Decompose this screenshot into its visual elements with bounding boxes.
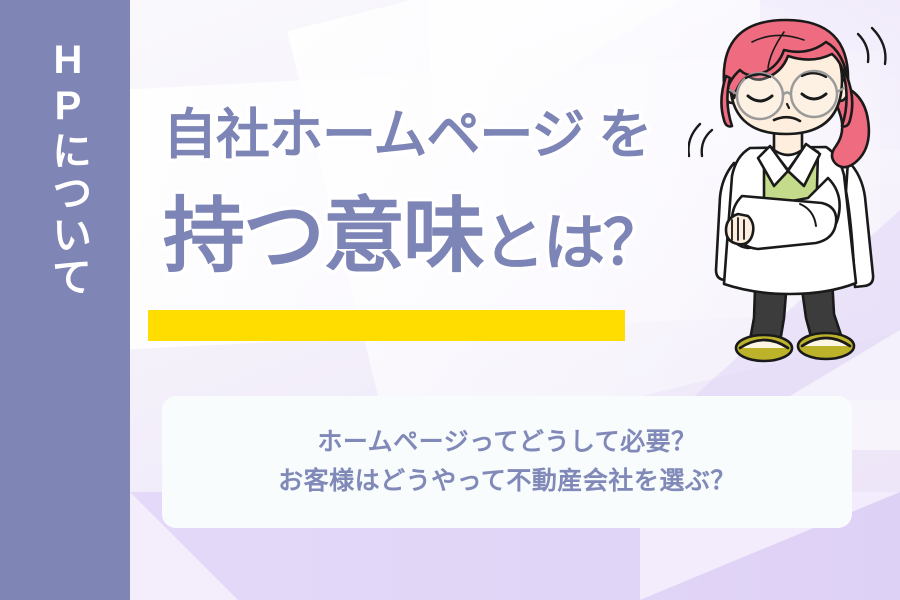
character-illustration [688, 18, 900, 388]
sidebar-panel: HPについて [0, 0, 130, 600]
headline-line-2-main: 持つ意味 [163, 191, 483, 282]
highlight-marker-bar [148, 310, 625, 341]
sidebar-vertical-label: HPについて [42, 38, 88, 338]
subtitle-line-2: お客様はどうやって不動産会社を選ぶ？ [278, 466, 736, 497]
banner-canvas: HPについて 自社ホームページ を 持つ意味とは？ ホームページってどうして必要… [0, 0, 900, 600]
headline-line-2-tail: とは？ [483, 209, 663, 278]
subtitle-line-1: ホームページってどうして必要？ [317, 427, 696, 458]
subtitle-card: ホームページってどうして必要？ お客様はどうやって不動産会社を選ぶ？ [162, 396, 852, 528]
headline-line-2: 持つ意味とは？ [163, 196, 663, 278]
